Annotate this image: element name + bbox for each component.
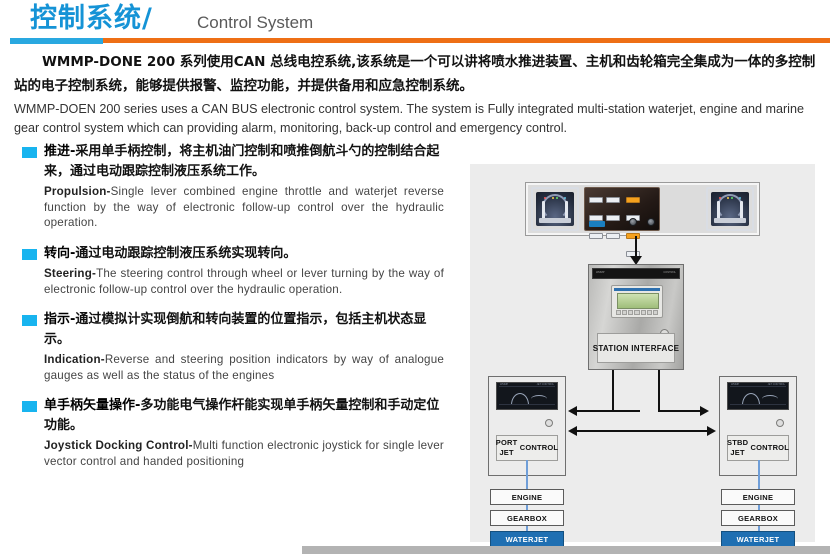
- gauge-dot: [727, 197, 729, 199]
- gauge-base: [539, 218, 571, 223]
- feature-en-lead: Joystick Docking Control-: [44, 439, 193, 452]
- stbd-indicator-led: [776, 419, 784, 427]
- port-waterjet-box: WATERJET: [490, 531, 564, 547]
- panel-brand-logo: [589, 221, 605, 227]
- panel-key: [606, 233, 620, 239]
- feature-en-line: Propulsion-Single lever combined engine …: [44, 184, 444, 231]
- stbd-jet-control-label: STBD JET CONTROL: [727, 435, 789, 461]
- port-jet-display: WMMP JET CONTROL: [496, 382, 558, 410]
- port-gearbox-box: GEARBOX: [490, 510, 564, 526]
- page-title-cn: 控制系统/: [30, 2, 153, 36]
- arrowhead-right-icon: [700, 406, 709, 416]
- feature-cn-lead: 指示-: [44, 312, 75, 327]
- bullet-square-icon: [22, 315, 37, 326]
- panel-key: [606, 215, 620, 221]
- connector-station-to-port: [612, 370, 614, 412]
- hmi-keypad: [616, 310, 658, 315]
- bottom-scroll-track: [0, 548, 302, 554]
- gauge-dot: [556, 197, 558, 199]
- feature-cn-text: 通过电动跟踪控制液压系统实现转向。: [75, 246, 296, 261]
- hmi-display-module: [611, 285, 663, 318]
- gauge-base: [714, 218, 746, 223]
- arrowhead-left-icon: [568, 406, 577, 416]
- page-title-en: Control System: [197, 12, 313, 34]
- connector-station-to-port-h: [612, 410, 640, 412]
- panel-key-active: [626, 233, 640, 239]
- panel-knob: [629, 218, 637, 226]
- feature-en-line: Indication-Reverse and steering position…: [44, 352, 444, 383]
- feature-item-joystick: 单手柄矢量操作-多功能电气操作杆能实现单手柄矢量控制和手动定位功能。 Joyst…: [12, 396, 444, 469]
- feature-item-steering: 转向-通过电动跟踪控制液压系统实现转向。 Steering-The steeri…: [12, 244, 444, 298]
- feature-item-indication: 指示-通过模拟计实现倒航和转向装置的位置指示，包括主机状态显示。 Indicat…: [12, 310, 444, 383]
- stbd-waterjet-box: WATERJET: [721, 531, 795, 547]
- panel-key-group-left: [589, 193, 623, 247]
- station-top-strip: WMMP CONTROL: [592, 268, 680, 279]
- connector-port-stbd-link: [577, 430, 709, 432]
- stbd-jet-display: WMMP JET CONTROL: [727, 382, 789, 410]
- panel-key: [606, 197, 620, 203]
- strip-text-right: CONTROL: [663, 271, 676, 274]
- stbd-label-line2: CONTROL: [751, 443, 789, 453]
- display-text-right: JET CONTROL: [768, 383, 785, 386]
- hmi-lcd-screen: [617, 293, 659, 309]
- display-text-right: JET CONTROL: [537, 383, 554, 386]
- gauge-dot: [739, 197, 741, 199]
- hmi-key: [628, 310, 633, 315]
- feature-item-propulsion: 推进-采用单手柄控制，将主机油门控制和喷推倒航斗勺的控制结合起来，通过电动跟踪控…: [12, 142, 444, 231]
- station-interface-unit: WMMP CONTROL STATION INTERFACE: [588, 264, 684, 370]
- port-label-line1: PORT JET: [496, 438, 518, 458]
- feature-en-lead: Indication-: [44, 353, 105, 366]
- feature-cn-text: 通过模拟计实现倒航和转向装置的位置指示，包括主机状态显示。: [44, 312, 426, 347]
- hmi-key: [647, 310, 652, 315]
- port-indicator-led: [545, 419, 553, 427]
- arrowhead-right-icon: [707, 426, 716, 436]
- display-arc-graphic-2: [762, 395, 778, 403]
- bottom-scroll-thumb[interactable]: [302, 546, 830, 554]
- strip-text-left: WMMP: [596, 271, 605, 274]
- display-bottom-bar: [499, 404, 555, 408]
- display-arc-graphic-2: [531, 395, 547, 403]
- feature-cn-lead: 转向-: [44, 246, 75, 261]
- connector-console-to-station: [635, 236, 637, 258]
- stbd-throttle-gauge-icon: [706, 187, 754, 231]
- connector-stbd-h: [658, 410, 702, 412]
- feature-cn-line: 单手柄矢量操作-多功能电气操作杆能实现单手柄矢量控制和手动定位功能。: [44, 396, 444, 435]
- panel-key-active: [626, 197, 640, 203]
- station-label-line2: INTERFACE: [631, 343, 679, 354]
- arrowhead-left-icon: [568, 426, 577, 436]
- feature-en-line: Steering-The steering control through wh…: [44, 266, 444, 297]
- feature-cn-lead: 推进-: [44, 144, 75, 159]
- gauge-face: [711, 192, 749, 226]
- intro-block: WMMP-DONE 200 系列使用CAN 总线电控系统,该系统是一个可以讲将喷…: [14, 50, 820, 138]
- stbd-gearbox-box: GEARBOX: [721, 510, 795, 526]
- header-rule-blue: [10, 38, 103, 44]
- feature-cn-lead: 单手柄矢量操作-: [44, 398, 140, 413]
- port-engine-box: ENGINE: [490, 489, 564, 505]
- display-top-bar: WMMP JET CONTROL: [499, 384, 555, 387]
- port-jet-control-label: PORT JET CONTROL: [496, 435, 558, 461]
- control-head-panel-icon: [584, 187, 660, 231]
- feature-cn-line: 推进-采用单手柄控制，将主机油门控制和喷推倒航斗勺的控制结合起来，通过电动跟踪控…: [44, 142, 444, 181]
- feature-en-lead: Propulsion-: [44, 185, 111, 198]
- gauge-dot: [731, 197, 733, 199]
- gauge-dot: [552, 197, 554, 199]
- header-rule-orange: [103, 38, 830, 43]
- hmi-key: [634, 310, 639, 315]
- bullet-square-icon: [22, 401, 37, 412]
- page-header: 控制系统/ Control System: [0, 0, 830, 46]
- port-throttle-gauge-icon: [531, 187, 579, 231]
- display-top-bar: WMMP JET CONTROL: [730, 384, 786, 387]
- hmi-key: [622, 310, 627, 315]
- intro-text-cn: WMMP-DONE 200 系列使用CAN 总线电控系统,该系统是一个可以讲将喷…: [14, 50, 820, 98]
- port-label-line2: CONTROL: [520, 443, 558, 453]
- display-text-left: WMMP: [500, 383, 508, 386]
- stbd-driveline-stack: ENGINE GEARBOX WATERJET: [721, 489, 795, 552]
- panel-key: [589, 197, 603, 203]
- display-bottom-bar: [730, 404, 786, 408]
- stbd-engine-box: ENGINE: [721, 489, 795, 505]
- feature-cn-line: 指示-通过模拟计实现倒航和转向装置的位置指示，包括主机状态显示。: [44, 310, 444, 349]
- display-text-left: WMMP: [731, 383, 739, 386]
- bullet-square-icon: [22, 249, 37, 260]
- gauge-dot: [544, 197, 546, 199]
- port-driveline-stack: ENGINE GEARBOX WATERJET: [490, 489, 564, 552]
- gauge-dot: [564, 197, 566, 199]
- stbd-label-line1: STBD JET: [727, 438, 748, 458]
- hmi-key: [616, 310, 621, 315]
- panel-key-group-right: [626, 193, 658, 265]
- gauge-face: [536, 192, 574, 226]
- feature-cn-line: 转向-通过电动跟踪控制液压系统实现转向。: [44, 244, 444, 264]
- hmi-key: [641, 310, 646, 315]
- hmi-key: [653, 310, 658, 315]
- panel-key: [589, 233, 603, 239]
- intro-text-en: WMMP-DOEN 200 series uses a CAN BUS elec…: [14, 100, 820, 138]
- station-interface-label: STATION INTERFACE: [597, 333, 675, 363]
- feature-list: 推进-采用单手柄控制，将主机油门控制和喷推倒航斗勺的控制结合起来，通过电动跟踪控…: [12, 142, 444, 482]
- connector-port-h: [577, 410, 613, 412]
- feature-en-line: Joystick Docking Control-Multi function …: [44, 438, 444, 469]
- feature-en-text: The steering control through wheel or le…: [44, 267, 444, 296]
- bullet-square-icon: [22, 147, 37, 158]
- system-architecture-diagram: WMMP CONTROL STATION INTERFACE: [470, 164, 815, 542]
- feature-en-text: Reverse and steering position indicators…: [44, 353, 444, 382]
- slide-page: 控制系统/ Control System WMMP-DONE 200 系列使用C…: [0, 0, 830, 554]
- feature-cn-text: 采用单手柄控制，将主机油门控制和喷推倒航斗勺的控制结合起来，通过电动跟踪控制液压…: [44, 144, 439, 179]
- bridge-console-group: [525, 182, 760, 236]
- hmi-header-bar: [614, 288, 660, 291]
- connector-station-to-stbd: [658, 370, 660, 412]
- gauge-dot: [719, 197, 721, 199]
- station-label-line1: STATION: [593, 343, 629, 354]
- panel-knob: [647, 218, 655, 226]
- feature-en-lead: Steering-: [44, 267, 96, 280]
